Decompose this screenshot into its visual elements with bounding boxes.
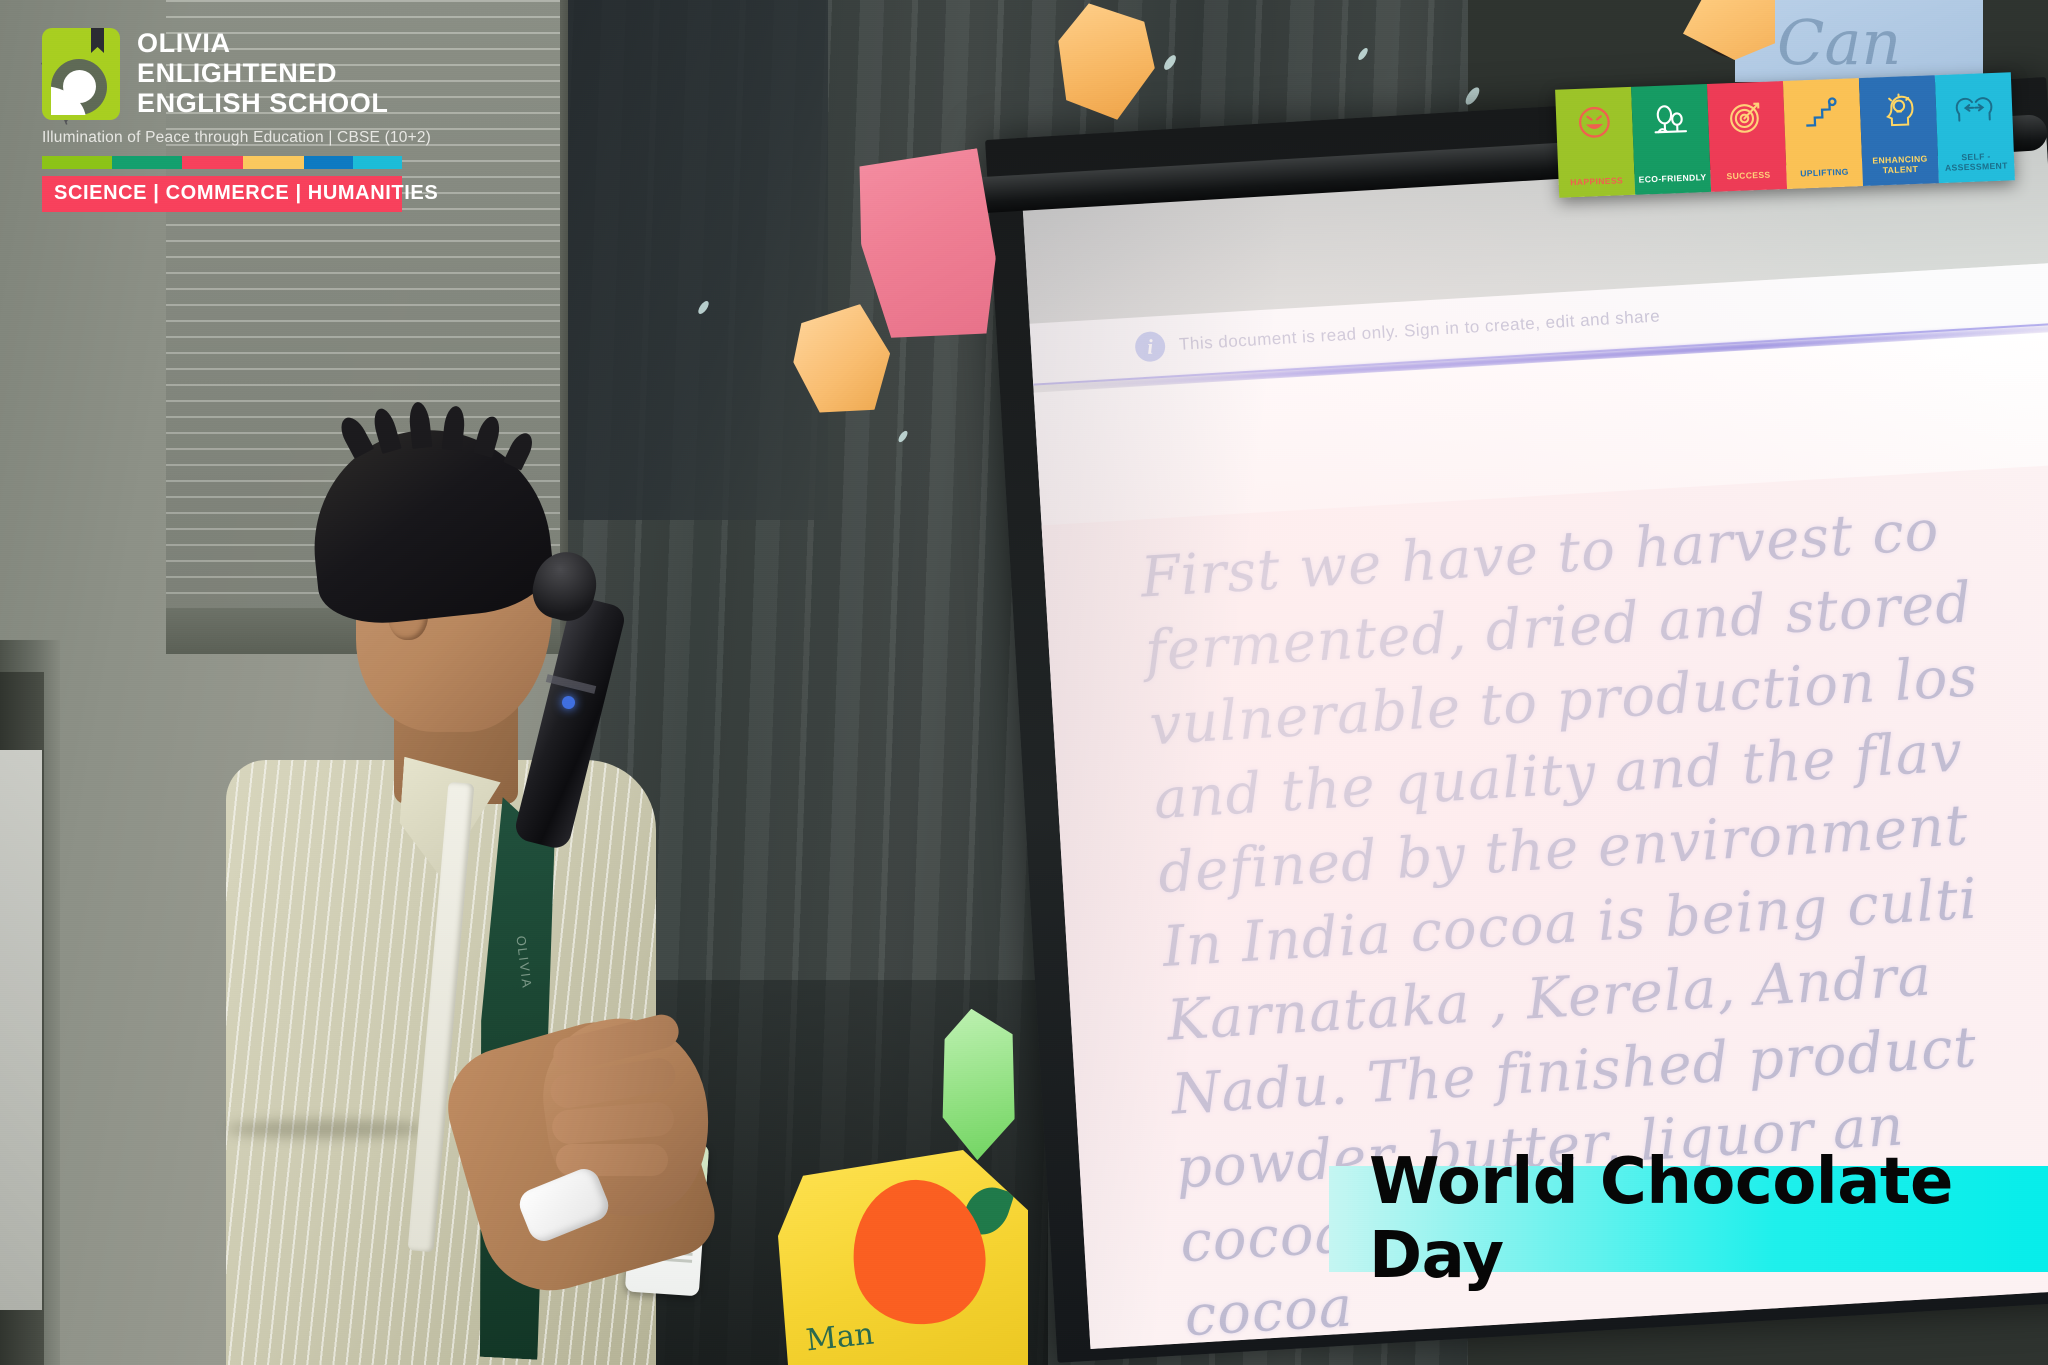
value-badges-strip: HAPPINESS ECO-FRIENDLY	[1555, 72, 2015, 197]
school-streams-banner: SCIENCE | COMMERCE | HUMANITIES	[42, 176, 402, 212]
colorbar-swatch	[353, 156, 402, 169]
brand-colorbar	[42, 156, 402, 169]
info-icon: i	[1134, 331, 1166, 363]
badge-label: HAPPINESS	[1558, 175, 1634, 188]
school-logo-block: OLIVIA ENLIGHTENED ENGLISH SCHOOL Illumi…	[42, 28, 450, 212]
badge-label: SUCCESS	[1710, 169, 1786, 182]
badge-self-assessment: SELF - ASSESSMENT	[1935, 72, 2015, 183]
sleeve-shadow	[226, 1120, 426, 1138]
stairs-growth-icon	[1801, 91, 1843, 137]
blue-paper-text: Can	[1777, 6, 1901, 79]
colorbar-swatch	[42, 156, 112, 169]
mango-shape	[838, 1168, 997, 1337]
lanyard-text: OLIVIA	[499, 933, 551, 1008]
target-dart-icon	[1725, 94, 1767, 140]
photo-scene: Can i This document is read only. Sign i…	[0, 0, 2048, 1365]
badge-label: SELF - ASSESSMENT	[1938, 150, 2015, 173]
school-name-line-3: ENGLISH SCHOOL	[137, 88, 388, 118]
mango-candy-decoration: Man	[778, 1150, 1028, 1365]
badge-label: UPLIFTING	[1786, 166, 1862, 179]
smiley-face-icon	[1574, 100, 1616, 146]
school-name-line-1: OLIVIA	[137, 28, 388, 58]
logo-dot-shape	[63, 70, 96, 103]
colorbar-swatch	[182, 156, 243, 169]
trees-icon	[1649, 97, 1691, 143]
school-name-line-2: ENLIGHTENED	[137, 58, 388, 88]
badge-happiness: HAPPINESS	[1555, 87, 1635, 198]
student-presenter: OLIVIA	[216, 430, 756, 1365]
book-lamp-logo-icon	[42, 28, 120, 120]
mango-candy-label: Man	[804, 1317, 875, 1359]
read-only-notice-text: This document is read only. Sign in to c…	[1179, 306, 1661, 355]
bookmark-shape	[91, 28, 104, 53]
event-caption-text: World Chocolate Day	[1369, 1145, 2048, 1293]
badge-uplifting: UPLIFTING	[1783, 78, 1863, 189]
school-tagline: Illumination of Peace through Education …	[42, 129, 450, 147]
badge-label: ENHANCING TALENT	[1862, 153, 1939, 176]
badge-label: ECO-FRIENDLY	[1634, 172, 1710, 185]
colorbar-swatch	[243, 156, 304, 169]
badge-eco-friendly: ECO-FRIENDLY	[1631, 84, 1711, 195]
head-lightbulb-icon	[1877, 88, 1919, 134]
colorbar-swatch	[112, 156, 182, 169]
hair-spike	[503, 429, 537, 470]
event-caption-bar: World Chocolate Day	[1329, 1166, 2048, 1272]
badge-enhancing-talent: ENHANCING TALENT	[1859, 75, 1939, 186]
two-heads-exchange-icon	[1953, 85, 1995, 131]
badge-success: SUCCESS	[1707, 81, 1787, 192]
colorbar-swatch	[304, 156, 353, 169]
white-board-edge	[0, 750, 42, 1310]
